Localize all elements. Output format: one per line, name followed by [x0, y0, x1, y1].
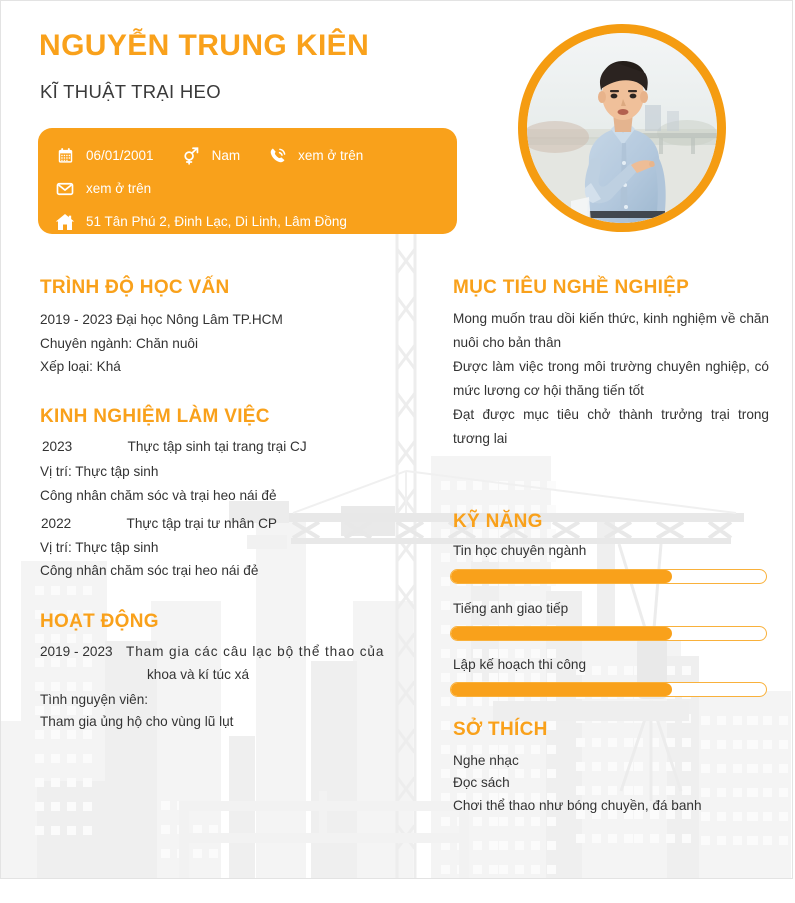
contact-card: 06/01/2001 Nam: [38, 128, 457, 234]
activities-volunteer-text: Tham gia ủng hộ cho vùng lũ lụt: [40, 714, 233, 729]
skill-bar-2-fill: [451, 627, 672, 640]
skill-label-2: Tiếng anh giao tiếp: [453, 601, 568, 616]
skill-bar-3-fill: [451, 683, 672, 696]
experience-item-2-position: Vị trí: Thực tập sinh: [40, 540, 158, 555]
contact-row-3: 51 Tân Phú 2, Đinh Lạc, Di Linh, Lâm Đồn…: [54, 205, 441, 238]
objective-paragraph-3: Đạt được mục tiêu chở thành trưởng trại …: [453, 403, 769, 451]
section-title-hobbies: SỞ THÍCH: [453, 719, 548, 741]
objective-paragraph-1: Mong muốn trau dồi kiến thức, kinh nghiệ…: [453, 307, 769, 355]
section-title-experience: KINH NGHIỆM LÀM VIỆC: [40, 406, 270, 428]
experience-item-2-year: 2022: [41, 516, 123, 531]
education-line-3: Xếp loại: Khá: [40, 359, 121, 374]
job-title: KĨ THUẬT TRẠI HEO: [40, 81, 221, 103]
contact-row-2: xem ở trên: [54, 172, 441, 205]
contact-email-value: xem ở trên: [86, 181, 151, 196]
contact-birthdate: 06/01/2001: [54, 145, 154, 167]
contact-address: 51 Tân Phú 2, Đinh Lạc, Di Linh, Lâm Đồn…: [54, 211, 347, 233]
phone-icon: [266, 145, 288, 167]
skill-bar-2: [450, 626, 767, 641]
experience-item-2-header: 2022 Thực tập trại tư nhân CP: [41, 516, 277, 531]
avatar-image: [527, 33, 717, 223]
skill-label-1: Tin học chuyên ngành: [453, 543, 586, 558]
experience-item-2-role: Thực tập trại tư nhân CP: [127, 516, 277, 531]
experience-item-1-header: 2023 Thực tập sinh tại trang trại CJ: [42, 439, 307, 454]
section-title-activities: HOẠT ĐỘNG: [40, 611, 159, 633]
contact-gender: Nam: [180, 145, 241, 167]
experience-item-2-duty: Công nhân chăm sóc trại heo nái đẻ: [40, 563, 258, 578]
experience-item-1-duty: Công nhân chăm sóc và trại heo nái đẻ: [40, 488, 277, 503]
contact-row-1: 06/01/2001 Nam: [54, 139, 441, 172]
activities-volunteer-label: Tình nguyện viên:: [40, 692, 148, 707]
skill-bar-3: [450, 682, 767, 697]
experience-item-1-role: Thực tập sinh tại trang trại CJ: [128, 439, 307, 454]
contact-address-value: 51 Tân Phú 2, Đinh Lạc, Di Linh, Lâm Đồn…: [86, 214, 347, 229]
section-title-skills: KỸ NĂNG: [453, 511, 543, 533]
skill-bar-1-fill: [451, 570, 672, 583]
home-icon: [54, 211, 76, 233]
contact-phone-value: xem ở trên: [298, 148, 363, 163]
contact-gender-value: Nam: [212, 148, 241, 163]
skill-bar-1: [450, 569, 767, 584]
contact-phone: xem ở trên: [266, 145, 363, 167]
activities-line-1: Tham gia các câu lạc bộ thể thao của: [126, 644, 384, 659]
experience-item-1-position: Vị trí: Thực tập sinh: [40, 464, 158, 479]
experience-item-1-year: 2023: [42, 439, 124, 454]
skill-label-3: Lập kế hoạch thi công: [453, 657, 586, 672]
gender-icon: [180, 145, 202, 167]
hobby-item-1: Nghe nhạc: [453, 753, 519, 768]
section-title-education: TRÌNH ĐỘ HỌC VẤN: [40, 277, 230, 299]
section-title-objective: MỤC TIÊU NGHỀ NGHIỆP: [453, 277, 689, 299]
education-line-2: Chuyên ngành: Chăn nuôi: [40, 336, 198, 351]
activities-year: 2019 - 2023: [40, 644, 113, 659]
page-title: NGUYỄN TRUNG KIÊN: [39, 29, 369, 63]
calendar-icon: [54, 145, 76, 167]
avatar: [518, 24, 726, 232]
contact-email: xem ở trên: [54, 178, 151, 200]
activities-line-2: khoa và kí túc xá: [147, 667, 249, 682]
hobby-item-3: Chơi thể thao như bóng chuyền, đá banh: [453, 798, 702, 813]
objective-paragraph-2: Được làm việc trong môi trường chuyên ng…: [453, 355, 769, 403]
contact-birthdate-value: 06/01/2001: [86, 148, 154, 163]
education-line-1: 2019 - 2023 Đại học Nông Lâm TP.HCM: [40, 312, 283, 327]
hobby-item-2: Đọc sách: [453, 775, 510, 790]
cv-page: NGUYỄN TRUNG KIÊN KĨ THUẬT TRẠI HEO: [0, 0, 793, 879]
envelope-icon: [54, 178, 76, 200]
